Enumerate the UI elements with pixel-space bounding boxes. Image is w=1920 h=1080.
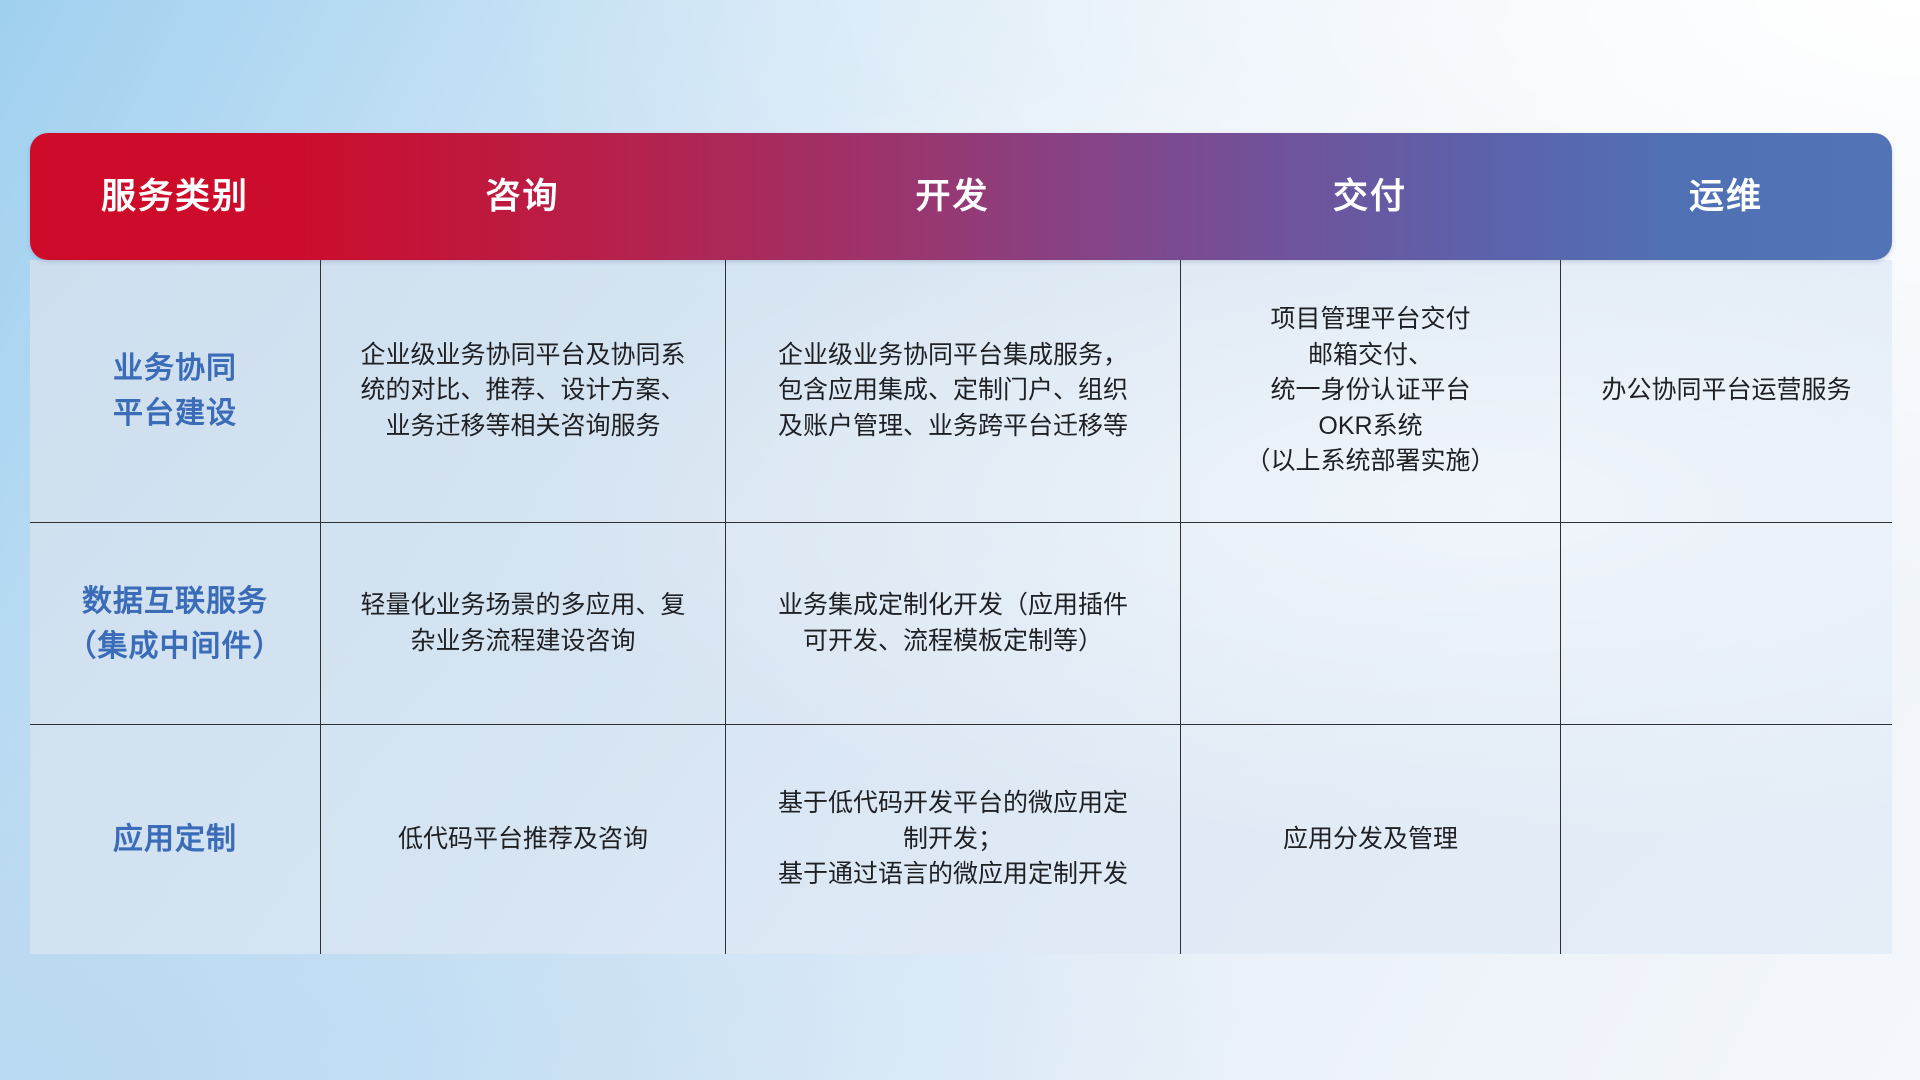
table-row: 应用定制 低代码平台推荐及咨询 基于低代码开发平台的微应用定 制开发； 基于通过… (30, 724, 1892, 954)
table-body: 业务协同 平台建设 企业级业务协同平台及协同系 统的对比、推荐、设计方案、 业务… (30, 260, 1892, 954)
page-background: 服务类别 咨询 开发 交付 运维 业务协同 平台建设 (0, 0, 1920, 1080)
category-label: 数据互联服务 （集成中间件） (67, 579, 284, 669)
category-label: 应用定制 (113, 817, 237, 862)
cell-text: 项目管理平台交付 邮箱交付、 统一身份认证平台 OKR系统 （以上系统部署实施） (1245, 302, 1495, 480)
cell-operations: 办公协同平台运营服务 (1560, 260, 1892, 522)
cell-category: 应用定制 (30, 725, 320, 954)
cell-category: 数据互联服务 （集成中间件） (30, 523, 320, 724)
header-label-delivery: 交付 (1333, 179, 1407, 214)
cell-text: 低代码平台推荐及咨询 (398, 822, 648, 858)
cell-delivery: 应用分发及管理 (1180, 725, 1560, 954)
category-label: 业务协同 平台建设 (113, 346, 237, 436)
table-row: 数据互联服务 （集成中间件） 轻量化业务场景的多应用、复 杂业务流程建设咨询 业… (30, 522, 1892, 724)
cell-development: 业务集成定制化开发（应用插件 可开发、流程模板定制等） (725, 523, 1180, 724)
cell-development: 基于低代码开发平台的微应用定 制开发； 基于通过语言的微应用定制开发 (725, 725, 1180, 954)
table-header-row: 服务类别 咨询 开发 交付 运维 (30, 133, 1892, 260)
header-label-consulting: 咨询 (485, 179, 559, 214)
table-row: 业务协同 平台建设 企业级业务协同平台及协同系 统的对比、推荐、设计方案、 业务… (30, 260, 1892, 522)
cell-development: 企业级业务协同平台集成服务， 包含应用集成、定制门户、组织 及账户管理、业务跨平… (725, 260, 1180, 522)
cell-text: 业务集成定制化开发（应用插件 可开发、流程模板定制等） (778, 588, 1128, 659)
cell-operations (1560, 523, 1892, 724)
cell-text: 企业级业务协同平台及协同系 统的对比、推荐、设计方案、 业务迁移等相关咨询服务 (360, 338, 685, 445)
header-cell-operations: 运维 (1560, 179, 1892, 214)
cell-consulting: 轻量化业务场景的多应用、复 杂业务流程建设咨询 (320, 523, 725, 724)
cell-operations (1560, 725, 1892, 954)
service-matrix-table: 服务类别 咨询 开发 交付 运维 业务协同 平台建设 (30, 133, 1892, 955)
header-cell-consulting: 咨询 (320, 179, 725, 214)
header-cell-development: 开发 (725, 179, 1180, 214)
header-label-category: 服务类别 (101, 179, 249, 214)
cell-text: 办公协同平台运营服务 (1601, 373, 1851, 409)
header-label-operations: 运维 (1689, 179, 1763, 214)
header-cell-delivery: 交付 (1180, 179, 1560, 214)
cell-consulting: 低代码平台推荐及咨询 (320, 725, 725, 954)
cell-text: 应用分发及管理 (1283, 822, 1458, 858)
header-cell-category: 服务类别 (30, 179, 320, 214)
cell-delivery: 项目管理平台交付 邮箱交付、 统一身份认证平台 OKR系统 （以上系统部署实施） (1180, 260, 1560, 522)
cell-text: 企业级业务协同平台集成服务， 包含应用集成、定制门户、组织 及账户管理、业务跨平… (778, 338, 1128, 445)
header-label-development: 开发 (915, 179, 989, 214)
cell-delivery (1180, 523, 1560, 724)
cell-text: 轻量化业务场景的多应用、复 杂业务流程建设咨询 (360, 588, 685, 659)
cell-text: 基于低代码开发平台的微应用定 制开发； 基于通过语言的微应用定制开发 (778, 786, 1128, 893)
cell-consulting: 企业级业务协同平台及协同系 统的对比、推荐、设计方案、 业务迁移等相关咨询服务 (320, 260, 725, 522)
cell-category: 业务协同 平台建设 (30, 260, 320, 522)
